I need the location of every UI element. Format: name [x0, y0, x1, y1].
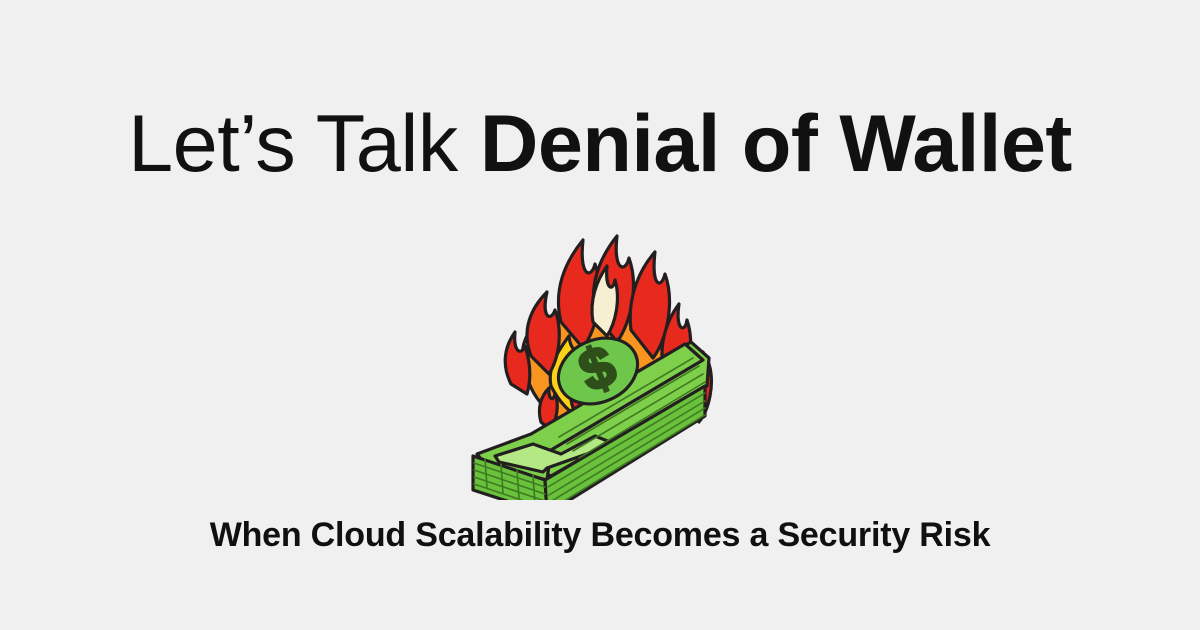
burning-money-icon: $ — [455, 218, 725, 500]
page-title-bold-part: Denial of Wallet — [480, 99, 1072, 189]
page-title-light-part: Let’s Talk — [128, 99, 480, 189]
burning-money-illustration: $ — [455, 218, 725, 500]
page-subtitle: When Cloud Scalability Becomes a Securit… — [0, 518, 1200, 552]
page-subtitle-text: When Cloud Scalability Becomes a Securit… — [210, 516, 991, 554]
page-title: Let’s Talk Denial of Wallet — [0, 104, 1200, 185]
banner-canvas: Let’s Talk Denial of Wallet — [0, 0, 1200, 630]
